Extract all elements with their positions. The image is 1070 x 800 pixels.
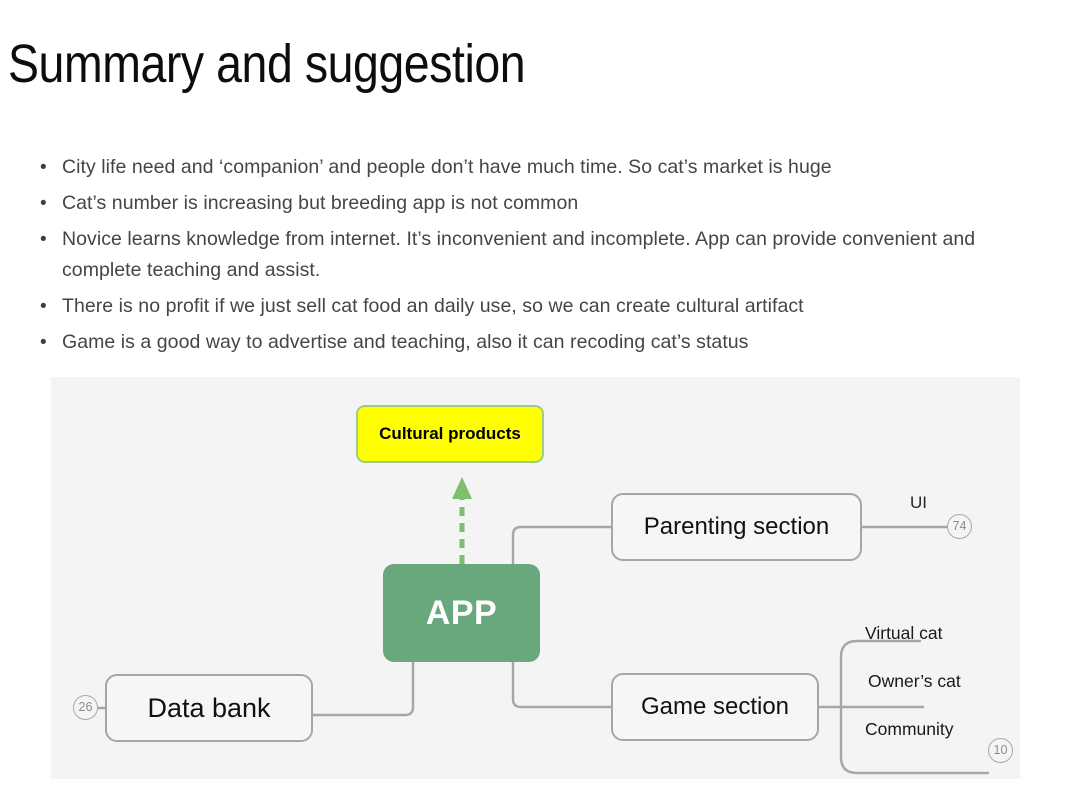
arrow-app-to-cultural — [452, 477, 472, 564]
bullet-marker-icon: • — [36, 291, 62, 322]
badge-value: 10 — [994, 744, 1008, 757]
node-data-bank[interactable]: Data bank — [105, 674, 313, 742]
bullet-text: Game is a good way to advertise and teac… — [62, 327, 996, 358]
mindmap-diagram: Cultural products APP Parenting section … — [51, 377, 1020, 779]
node-parenting-section[interactable]: Parenting section — [611, 493, 862, 561]
badge-value: 74 — [953, 520, 967, 533]
node-label: Parenting section — [644, 513, 829, 541]
list-item: • Game is a good way to advertise and te… — [36, 327, 996, 358]
bullet-text: City life need and ‘companion’ and peopl… — [62, 152, 996, 183]
connector-app-to-databank — [313, 662, 413, 715]
list-item: • Cat’s number is increasing but breedin… — [36, 188, 996, 219]
list-item: • There is no profit if we just sell cat… — [36, 291, 996, 322]
node-app[interactable]: APP — [383, 564, 540, 662]
node-label: Data bank — [147, 693, 270, 724]
badge-value: 26 — [79, 701, 93, 714]
badge-game-count[interactable]: 10 — [988, 738, 1013, 763]
connector-label-ui: UI — [910, 493, 927, 513]
bullet-text: There is no profit if we just sell cat f… — [62, 291, 996, 322]
node-label: Game section — [641, 693, 789, 721]
bullet-marker-icon: • — [36, 327, 62, 358]
bullet-text: Novice learns knowledge from internet. I… — [62, 224, 996, 286]
bullet-marker-icon: • — [36, 224, 62, 255]
node-label: APP — [426, 594, 497, 633]
bullet-list: • City life need and ‘companion’ and peo… — [36, 152, 996, 363]
node-game-section[interactable]: Game section — [611, 673, 819, 741]
page-title: Summary and suggestion — [8, 32, 525, 96]
bullet-marker-icon: • — [36, 152, 62, 183]
list-item: • City life need and ‘companion’ and peo… — [36, 152, 996, 183]
leaf-label-virtual-cat[interactable]: Virtual cat — [865, 623, 943, 644]
bullet-marker-icon: • — [36, 188, 62, 219]
connector-app-to-game — [513, 662, 611, 707]
leaf-label-community[interactable]: Community — [865, 719, 954, 740]
leaf-label-owners-cat[interactable]: Owner’s cat — [868, 671, 961, 692]
node-cultural-products[interactable]: Cultural products — [356, 405, 544, 463]
bullet-text: Cat’s number is increasing but breeding … — [62, 188, 996, 219]
node-label: Cultural products — [379, 424, 521, 444]
list-item: • Novice learns knowledge from internet.… — [36, 224, 996, 286]
badge-databank-count[interactable]: 26 — [73, 695, 98, 720]
badge-parenting-count[interactable]: 74 — [947, 514, 972, 539]
